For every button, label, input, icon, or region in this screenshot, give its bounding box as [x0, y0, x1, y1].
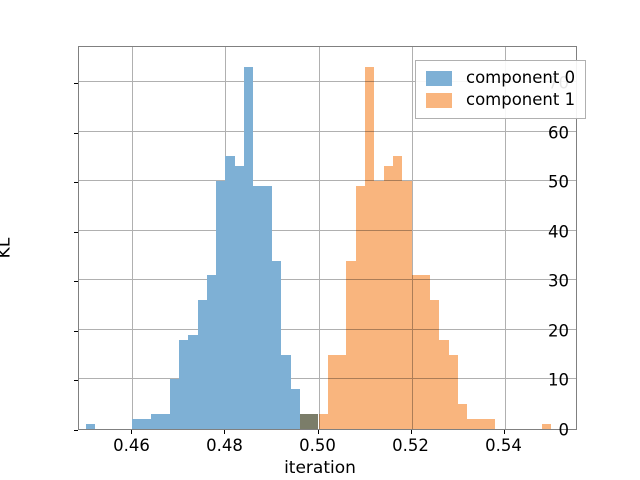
- y-tick-mark-30: [74, 281, 78, 282]
- y-tick-label-60: 60: [548, 123, 569, 142]
- y-tick-label-30: 30: [548, 272, 569, 291]
- x-tick-mark-0.52: [411, 430, 412, 434]
- histogram-bar: [365, 67, 374, 429]
- histogram-bar: [430, 300, 439, 429]
- histogram-bar: [374, 181, 383, 429]
- histogram-bar: [142, 419, 151, 429]
- histogram-bar: [86, 424, 95, 429]
- x-tick-mark-0.5: [318, 430, 319, 434]
- histogram-bar: [328, 355, 337, 429]
- histogram-bar: [253, 186, 262, 429]
- gridline-y-60: [79, 131, 576, 132]
- gridline-y-40: [79, 230, 576, 231]
- y-tick-label-10: 10: [548, 371, 569, 390]
- histogram-bar: [179, 340, 188, 429]
- histogram-bar: [225, 156, 234, 429]
- histogram-bar: [486, 419, 495, 429]
- x-axis-label: iteration: [0, 458, 640, 478]
- y-tick-mark-60: [74, 133, 78, 134]
- x-tick-mark-0.48: [224, 430, 225, 434]
- histogram-bar: [281, 355, 290, 429]
- y-axis-label: KL: [0, 238, 14, 259]
- histogram-bar: [346, 261, 355, 429]
- y-tick-mark-20: [74, 331, 78, 332]
- y-tick-mark-50: [74, 182, 78, 183]
- histogram-bar: [458, 404, 467, 429]
- legend-item-component-0[interactable]: component 0: [426, 67, 575, 89]
- histogram-bar: [356, 186, 365, 429]
- x-tick-label-0.46: 0.46: [113, 436, 150, 455]
- gridline-x-0.46: [132, 47, 133, 429]
- legend-label: component 0: [466, 70, 575, 87]
- histogram-bar: [207, 275, 216, 429]
- histogram-bar: [160, 414, 169, 429]
- histogram-bar: [542, 424, 551, 429]
- gridline-y-20: [79, 329, 576, 330]
- histogram-bar: [337, 355, 346, 429]
- legend-item-component-1[interactable]: component 1: [426, 89, 575, 111]
- histogram-bar: [244, 67, 253, 429]
- histogram-bar: [384, 166, 393, 429]
- histogram-bar: [216, 181, 225, 429]
- histogram-bar: [263, 186, 272, 429]
- legend-swatch-icon: [426, 71, 452, 86]
- histogram-bar: [449, 355, 458, 429]
- histogram-bar: [291, 389, 300, 429]
- histogram-bar: [319, 414, 328, 429]
- y-tick-label-50: 50: [548, 173, 569, 192]
- histogram-bar: [132, 419, 141, 429]
- chart-legend[interactable]: component 0component 1: [415, 60, 586, 119]
- y-tick-label-40: 40: [548, 222, 569, 241]
- gridline-y-30: [79, 279, 576, 280]
- histogram-bar: [151, 414, 160, 429]
- y-tick-label-0: 0: [559, 421, 570, 440]
- x-tick-mark-0.46: [131, 430, 132, 434]
- histogram-bar: [477, 419, 486, 429]
- y-tick-mark-0: [74, 430, 78, 431]
- y-tick-mark-10: [74, 380, 78, 381]
- gridline-x-0.5: [319, 47, 320, 429]
- figure-canvas: 010203040506070 0.460.480.500.520.54 KL …: [0, 0, 640, 480]
- histogram-bar: [412, 275, 421, 429]
- histogram-bar: [170, 379, 179, 429]
- x-tick-label-0.5: 0.50: [299, 436, 336, 455]
- histogram-bar: [393, 156, 402, 429]
- histogram-bar: [467, 419, 476, 429]
- x-tick-label-0.54: 0.54: [485, 436, 522, 455]
- y-tick-mark-70: [74, 83, 78, 84]
- histogram-bar: [300, 414, 309, 429]
- gridline-y-50: [79, 180, 576, 181]
- x-tick-label-0.52: 0.52: [392, 436, 429, 455]
- histogram-bar: [309, 414, 318, 429]
- histogram-bar: [235, 166, 244, 429]
- y-tick-mark-40: [74, 232, 78, 233]
- legend-swatch-icon: [426, 93, 452, 108]
- histogram-bar: [198, 300, 207, 429]
- histogram-bar: [272, 261, 281, 429]
- x-tick-label-0.48: 0.48: [206, 436, 243, 455]
- histogram-bar: [402, 181, 411, 429]
- histogram-bar: [188, 335, 197, 429]
- x-tick-mark-0.54: [504, 430, 505, 434]
- histogram-bar: [439, 340, 448, 429]
- legend-label: component 1: [466, 92, 575, 109]
- y-tick-label-20: 20: [548, 321, 569, 340]
- histogram-bar: [421, 275, 430, 429]
